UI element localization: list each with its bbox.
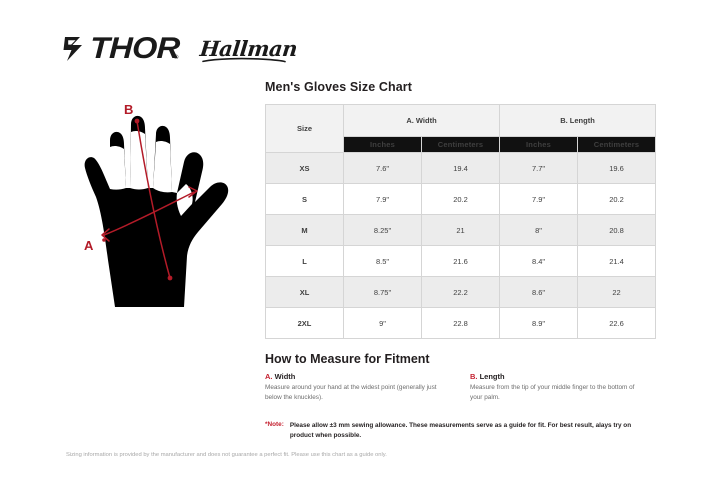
cell-size: L [266,246,344,277]
measure-length-text: Measure from the tip of your middle fing… [470,383,648,403]
cell-width-centimeters: 21 [422,215,500,246]
size-chart-table: Size A. Width B. Length Inches Centimete… [265,104,656,339]
cell-size: XL [266,277,344,308]
cell-width-centimeters: 22.2 [422,277,500,308]
measure-length-name: Length [480,372,505,381]
table-row: S 7.9" 20.2 7.9" 20.2 [266,184,656,215]
hallman-wordmark: Hallman [199,38,298,59]
cell-width-centimeters: 20.2 [422,184,500,215]
header-width-inches: Inches [344,137,422,153]
cell-length-centimeters: 22 [578,277,656,308]
cell-width-inches: 9" [344,308,422,339]
cell-size: XS [266,153,344,184]
cell-length-centimeters: 19.6 [578,153,656,184]
cell-size: S [266,184,344,215]
header-length-centimeters: Centimeters [578,137,656,153]
thor-wordmark: THOR [89,34,180,64]
measure-length-letter: B. [470,372,478,381]
table-header-groups: Size A. Width B. Length [266,105,656,137]
width-label: A [84,238,94,253]
cell-width-centimeters: 21.6 [422,246,500,277]
thor-logo: THOR ® [62,34,178,64]
cell-length-inches: 7.9" [500,184,578,215]
header-size: Size [266,105,344,153]
cell-length-centimeters: 21.4 [578,246,656,277]
table-row: 2XL 9" 22.8 8.9" 22.6 [266,308,656,339]
table-row: L 8.5" 21.6 8.4" 21.4 [266,246,656,277]
hallman-logo: Hallman [200,38,297,61]
cell-width-inches: 8.75" [344,277,422,308]
measure-length-heading: B. Length [470,372,648,381]
measure-length-block: B. Length Measure from the tip of your m… [470,372,648,403]
cell-width-inches: 7.6" [344,153,422,184]
header-group-width: A. Width [344,105,500,137]
measure-width-block: A. Width Measure around your hand at the… [265,372,443,403]
note-block: *Note: Please allow ±3 mm sewing allowan… [265,421,650,442]
measure-width-text: Measure around your hand at the widest p… [265,383,443,403]
cell-width-inches: 8.5" [344,246,422,277]
header-group-length: B. Length [500,105,656,137]
cell-width-centimeters: 22.8 [422,308,500,339]
howto-title: How to Measure for Fitment [265,352,430,366]
cell-width-centimeters: 19.4 [422,153,500,184]
script-underline-flourish-icon [201,57,287,63]
cell-length-inches: 8.4" [500,246,578,277]
table-row: XS 7.6" 19.4 7.7" 19.6 [266,153,656,184]
table-row: M 8.25" 21 8" 20.8 [266,215,656,246]
note-text: Please allow ±3 mm sewing allowance. The… [290,421,650,442]
cell-length-centimeters: 22.6 [578,308,656,339]
thor-arrow-mark-icon [62,35,88,63]
measure-width-letter: A. [265,372,273,381]
note-label: *Note: [265,421,284,442]
page-title: Men's Gloves Size Chart [265,80,412,94]
cell-length-inches: 8.9" [500,308,578,339]
cell-length-inches: 8.6" [500,277,578,308]
cell-width-inches: 7.9" [344,184,422,215]
length-label: B [124,102,133,117]
measure-width-name: Width [275,372,296,381]
hand-measurement-diagram: B A [58,92,268,317]
header-width-centimeters: Centimeters [422,137,500,153]
cell-size: M [266,215,344,246]
cell-length-inches: 8" [500,215,578,246]
footer-disclaimer: Sizing information is provided by the ma… [66,450,396,460]
table-row: XL 8.75" 22.2 8.6" 22 [266,277,656,308]
cell-length-centimeters: 20.8 [578,215,656,246]
cell-width-inches: 8.25" [344,215,422,246]
cell-size: 2XL [266,308,344,339]
cell-length-centimeters: 20.2 [578,184,656,215]
brand-logo-row: THOR ® Hallman [62,32,297,66]
cell-length-inches: 7.7" [500,153,578,184]
header-length-inches: Inches [500,137,578,153]
measure-width-heading: A. Width [265,372,443,381]
